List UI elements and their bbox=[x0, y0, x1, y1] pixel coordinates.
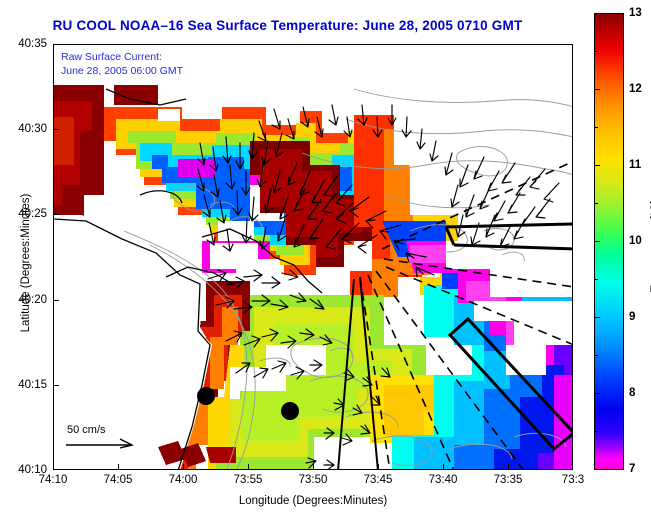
colorbar-minor-tick bbox=[594, 279, 598, 280]
y-axis-label: Latitude (Degrees:Minutes) bbox=[20, 153, 32, 373]
current-annotation: Raw Surface Current: June 28, 2005 06:00… bbox=[61, 50, 183, 78]
colorbar-label: 8 bbox=[629, 387, 635, 399]
x-tick bbox=[183, 464, 184, 470]
colorbar-minor-tick bbox=[594, 51, 598, 52]
colorbar-label: 12 bbox=[629, 83, 642, 95]
surface-current-quiver bbox=[197, 105, 559, 470]
y-tick-label: 40:30 bbox=[0, 123, 47, 135]
colorbar-minor-tick bbox=[594, 355, 598, 356]
right-arrow-icon bbox=[64, 436, 138, 452]
colorbar-minor-tick bbox=[594, 127, 598, 128]
x-tick-label: 74:00 bbox=[169, 474, 198, 486]
x-tick-label: 73:45 bbox=[364, 474, 393, 486]
colorbar-tick bbox=[594, 393, 600, 394]
colorbar-tick bbox=[594, 89, 600, 90]
x-tick-label: 73:50 bbox=[299, 474, 328, 486]
y-tick bbox=[53, 214, 59, 215]
annotation-line-2: June 28, 2005 06:00 GMT bbox=[61, 64, 183, 78]
x-axis-label: Longitude (Degrees:Minutes) bbox=[53, 495, 573, 507]
y-tick-label: 40:35 bbox=[0, 38, 47, 50]
x-tick bbox=[378, 464, 379, 470]
figure-canvas: RU COOL NOAA–16 Sea Surface Temperature:… bbox=[0, 0, 651, 515]
colorbar-minor-tick bbox=[594, 431, 598, 432]
station-marker bbox=[281, 402, 299, 420]
x-tick-label: 73:35 bbox=[494, 474, 523, 486]
colorbar-label: 7 bbox=[629, 463, 635, 475]
colorbar-minor-tick bbox=[594, 203, 598, 204]
vector-scale-label: 50 cm/s bbox=[67, 424, 138, 436]
x-tick bbox=[313, 464, 314, 470]
y-tick-label: 40:10 bbox=[0, 464, 47, 476]
y-tick bbox=[53, 300, 59, 301]
y-tick-label: 40:15 bbox=[0, 379, 47, 391]
colorbar-label: 9 bbox=[629, 311, 635, 323]
colorbar-tick bbox=[594, 13, 600, 14]
x-tick-label: 73:3 bbox=[562, 474, 584, 486]
colorbar-label: 13 bbox=[629, 7, 642, 19]
annotation-line-1: Raw Surface Current: bbox=[61, 50, 183, 64]
figure-title: RU COOL NOAA–16 Sea Surface Temperature:… bbox=[0, 18, 575, 33]
x-tick bbox=[118, 464, 119, 470]
y-tick bbox=[53, 129, 59, 130]
x-tick-label: 74:05 bbox=[104, 474, 133, 486]
map-overlays bbox=[54, 45, 572, 469]
y-tick bbox=[53, 385, 59, 386]
colorbar-label: 10 bbox=[629, 235, 642, 247]
colorbar-tick bbox=[594, 241, 600, 242]
colorbar-tick bbox=[594, 165, 600, 166]
sst-map-plot[interactable]: Raw Surface Current: June 28, 2005 06:00… bbox=[53, 44, 573, 470]
colorbar-label: 11 bbox=[629, 159, 641, 171]
x-tick bbox=[508, 464, 509, 470]
colorbar-tick bbox=[594, 469, 600, 470]
x-tick bbox=[443, 464, 444, 470]
vector-scale-legend: 50 cm/s bbox=[64, 424, 138, 457]
x-tick-label: 73:55 bbox=[234, 474, 263, 486]
x-tick-label: 73:40 bbox=[429, 474, 458, 486]
x-tick bbox=[248, 464, 249, 470]
station-marker bbox=[197, 387, 215, 405]
colorbar-tick bbox=[594, 317, 600, 318]
